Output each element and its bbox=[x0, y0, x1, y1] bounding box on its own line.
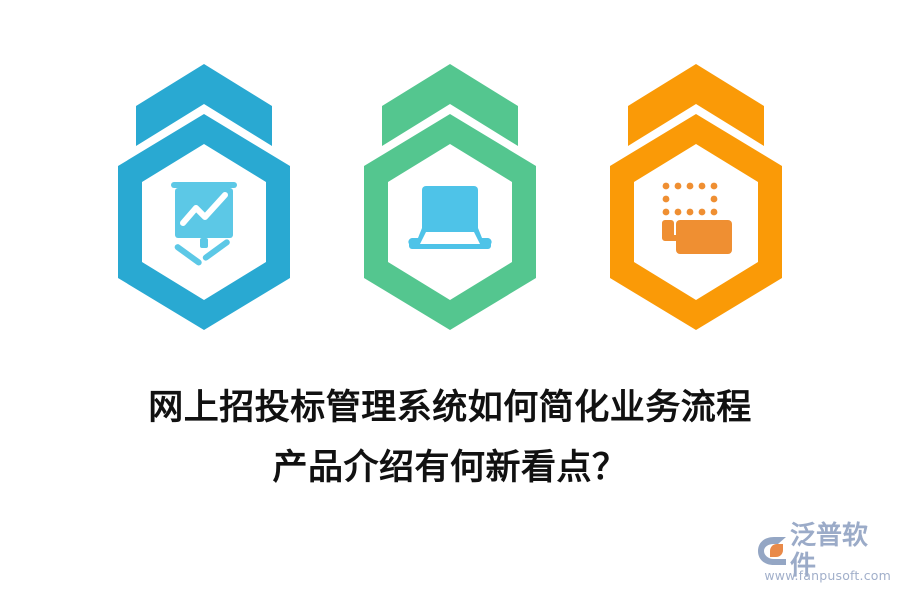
fanpu-logo-icon bbox=[756, 536, 788, 566]
promo-banner: 网上招投标管理系统如何简化业务流程 产品介绍有何新看点？ 泛普软件 www.fa… bbox=[0, 0, 900, 600]
badge-selection bbox=[606, 62, 786, 330]
watermark-brand-row: 泛普软件 bbox=[756, 534, 892, 568]
badge-laptop bbox=[360, 62, 540, 330]
page-title: 网上招投标管理系统如何简化业务流程 产品介绍有何新看点？ bbox=[0, 378, 900, 498]
solid-block-icon bbox=[662, 220, 732, 254]
watermark-logo: 泛普软件 www.fanpusoft.com bbox=[756, 534, 892, 588]
watermark-url: www.fanpusoft.com bbox=[756, 568, 892, 583]
selection-badge-graphic bbox=[606, 62, 786, 330]
laptop-badge-graphic bbox=[360, 62, 540, 330]
badge-row bbox=[0, 62, 900, 330]
headline-line-1: 网上招投标管理系统如何简化业务流程 bbox=[0, 378, 900, 438]
badge-presentation bbox=[114, 62, 294, 330]
dotted-selection-icon bbox=[663, 183, 718, 216]
laptop-keyboard-cutout bbox=[420, 232, 480, 244]
headline-line-2: 产品介绍有何新看点？ bbox=[0, 438, 900, 498]
presentation-badge-graphic bbox=[114, 62, 294, 330]
